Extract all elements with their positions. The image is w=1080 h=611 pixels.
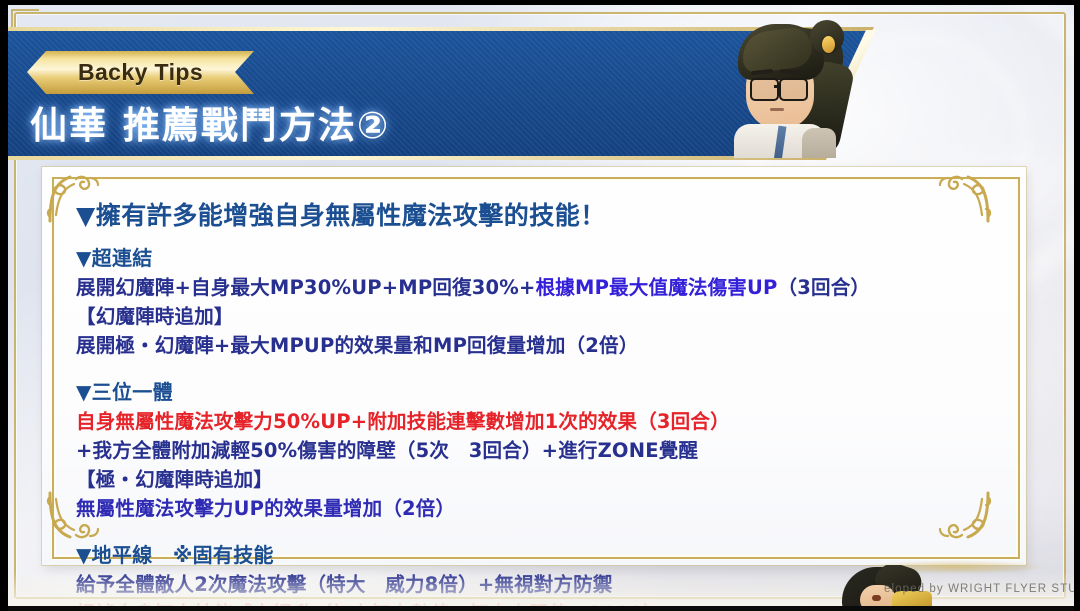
portrait-glasses-right-lens	[779, 78, 808, 101]
letterbox-right	[1074, 0, 1080, 611]
section-line: 自身無屬性魔法攻擊力50%UP+附加技能連擊數增加1次的效果（3回合）	[76, 405, 1006, 434]
backy-tips-label: Backy Tips	[78, 59, 203, 86]
section-line: +我方全體附加減輕50%傷害的障壁（5次 3回合）+進行ZONE覺醒	[76, 434, 1006, 463]
character-portrait	[706, 2, 866, 158]
section-spacer	[76, 521, 1006, 539]
text-run: 【幻魔陣時追加】	[76, 305, 234, 328]
skill-sections: ▼超連結展開幻魔陣+自身最大MP30%UP+MP回復30%+根據MP最大值魔法傷…	[76, 237, 1006, 611]
letterbox-bottom	[0, 606, 1080, 611]
portrait-glasses-bridge	[774, 85, 781, 88]
section-line: 【極・幻魔陣時追加】	[76, 463, 1006, 492]
text-run: 【極・幻魔陣時追加】	[76, 468, 273, 491]
section-title: ▼三位一體	[76, 376, 1006, 405]
text-run: 無屬性魔法攻擊力UP的效果量增加（2倍）	[76, 497, 455, 520]
section-line: 【幻魔陣時追加】	[76, 300, 1006, 329]
page-title: 仙華 推薦戰鬥方法②	[30, 95, 390, 149]
text-run: （3回合）	[778, 276, 871, 299]
presentation-slide: Backy Tips 仙華 推薦戰鬥方法②	[0, 0, 1080, 611]
section-spacer	[76, 358, 1006, 376]
letterbox-left	[0, 0, 8, 611]
portrait-hair-ornament-icon	[822, 36, 835, 53]
text-run: 自身無屬性魔法攻擊力50%UP+附加技能連擊數增加1次的效果（3回合）	[76, 410, 730, 433]
section-line: 展開幻魔陣+自身最大MP30%UP+MP回復30%+根據MP最大值魔法傷害UP（…	[76, 271, 1006, 300]
bottom-art-eye	[872, 595, 881, 601]
portrait-glasses-left-lens	[750, 78, 779, 101]
content-heading: ▼擁有許多能增強自身無屬性魔法攻擊的技能！	[76, 196, 1006, 232]
text-run: 展開極・幻魔陣+最大MPUP的效果量和MP回復量增加（2倍）	[76, 334, 638, 357]
backy-tips-badge: Backy Tips	[27, 51, 254, 94]
section-title: ▼超連結	[76, 242, 1006, 271]
section-line: 無屬性魔法攻擊力UP的效果量增加（2倍）	[76, 492, 1006, 521]
portrait-mouth	[770, 108, 784, 111]
letterbox-top	[0, 0, 1080, 5]
section-line: 展開極・幻魔陣+最大MPUP的效果量和MP回復量增加（2倍）	[76, 329, 1006, 358]
skill-description-content: ▼擁有許多能增強自身無屬性魔法攻擊的技能！ ▼超連結展開幻魔陣+自身最大MP30…	[76, 196, 1006, 611]
text-run: 展開幻魔陣+自身最大MP30%UP+MP回復30%+	[76, 276, 536, 299]
text-run: 根據MP最大值魔法傷害UP	[536, 276, 778, 299]
portrait-shoulder	[802, 128, 836, 158]
text-run: +我方全體附加減輕50%傷害的障壁（5次 3回合）+進行ZONE覺醒	[76, 439, 698, 462]
developer-credit: eloped by WRIGHT FLYER STUDIOS	[884, 583, 1080, 595]
banner-bottom-gold-line	[8, 156, 828, 160]
